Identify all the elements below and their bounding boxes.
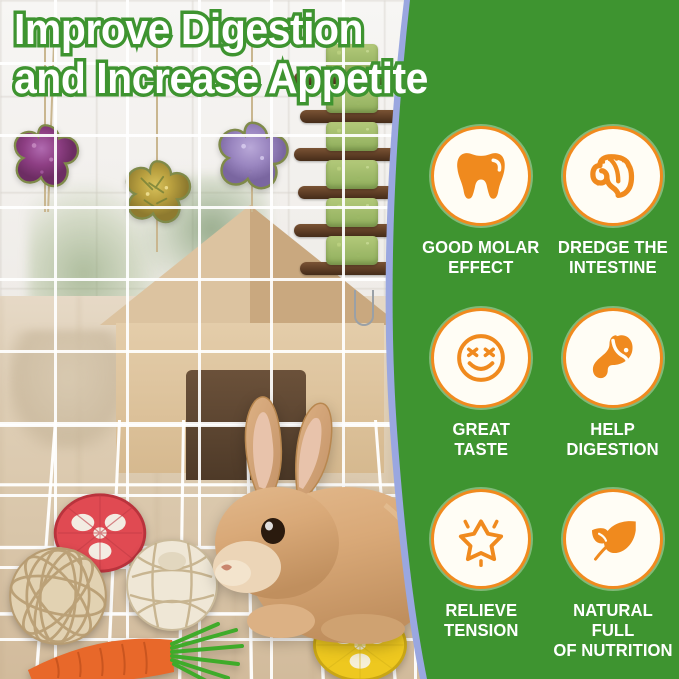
feature-help-digestion[interactable]: HELP DIGESTION [547, 308, 679, 490]
star-icon [453, 511, 509, 567]
feature-icon-circle [431, 489, 531, 589]
feature-icon-circle [563, 489, 663, 589]
smiley-icon [453, 330, 509, 386]
rabbit [185, 395, 430, 650]
feature-label: NATURAL FULL OF NUTRITION [550, 600, 675, 660]
feature-label: GREAT TASTE [452, 419, 509, 459]
flower-treat-shape [6, 104, 84, 212]
feature-label: HELP DIGESTION [567, 419, 659, 459]
metal-hook [354, 290, 374, 326]
leaf-icon [585, 511, 641, 567]
feature-label: DREDGE THE INTESTINE [558, 237, 668, 277]
feature-label: GOOD MOLAR EFFECT [422, 237, 539, 277]
intestine-icon [585, 148, 641, 204]
feature-icon-circle [563, 308, 663, 408]
feature-icon-circle [431, 126, 531, 226]
product-infographic: Improve Digestion and Increase Appetite … [0, 0, 679, 679]
feature-good-molar-effect[interactable]: GOOD MOLAR EFFECT [415, 126, 547, 308]
flower-treat-shape [210, 102, 294, 214]
tooth-icon [453, 148, 509, 204]
page-title: Improve Digestion and Increase Appetite [14, 5, 498, 103]
feature-icon-circle [431, 308, 531, 408]
hay-cake [326, 236, 378, 265]
hay-cake [326, 198, 378, 227]
stomach-icon [585, 330, 641, 386]
feature-great-taste[interactable]: GREAT TASTE [415, 308, 547, 490]
feature-relieve-tension[interactable]: RELIEVE TENSION [415, 489, 547, 671]
feature-label: RELIEVE TENSION [444, 600, 519, 640]
feature-icon-circle [563, 126, 663, 226]
feature-natural-full-of-nutrition[interactable]: NATURAL FULL OF NUTRITION [547, 489, 679, 671]
hay-cake [326, 160, 378, 189]
hay-cake [326, 122, 378, 151]
feature-grid: GOOD MOLAR EFFECT [415, 126, 679, 671]
flower-treat-shape [118, 140, 196, 248]
feature-dredge-the-intestine[interactable]: DREDGE THE INTESTINE [547, 126, 679, 308]
